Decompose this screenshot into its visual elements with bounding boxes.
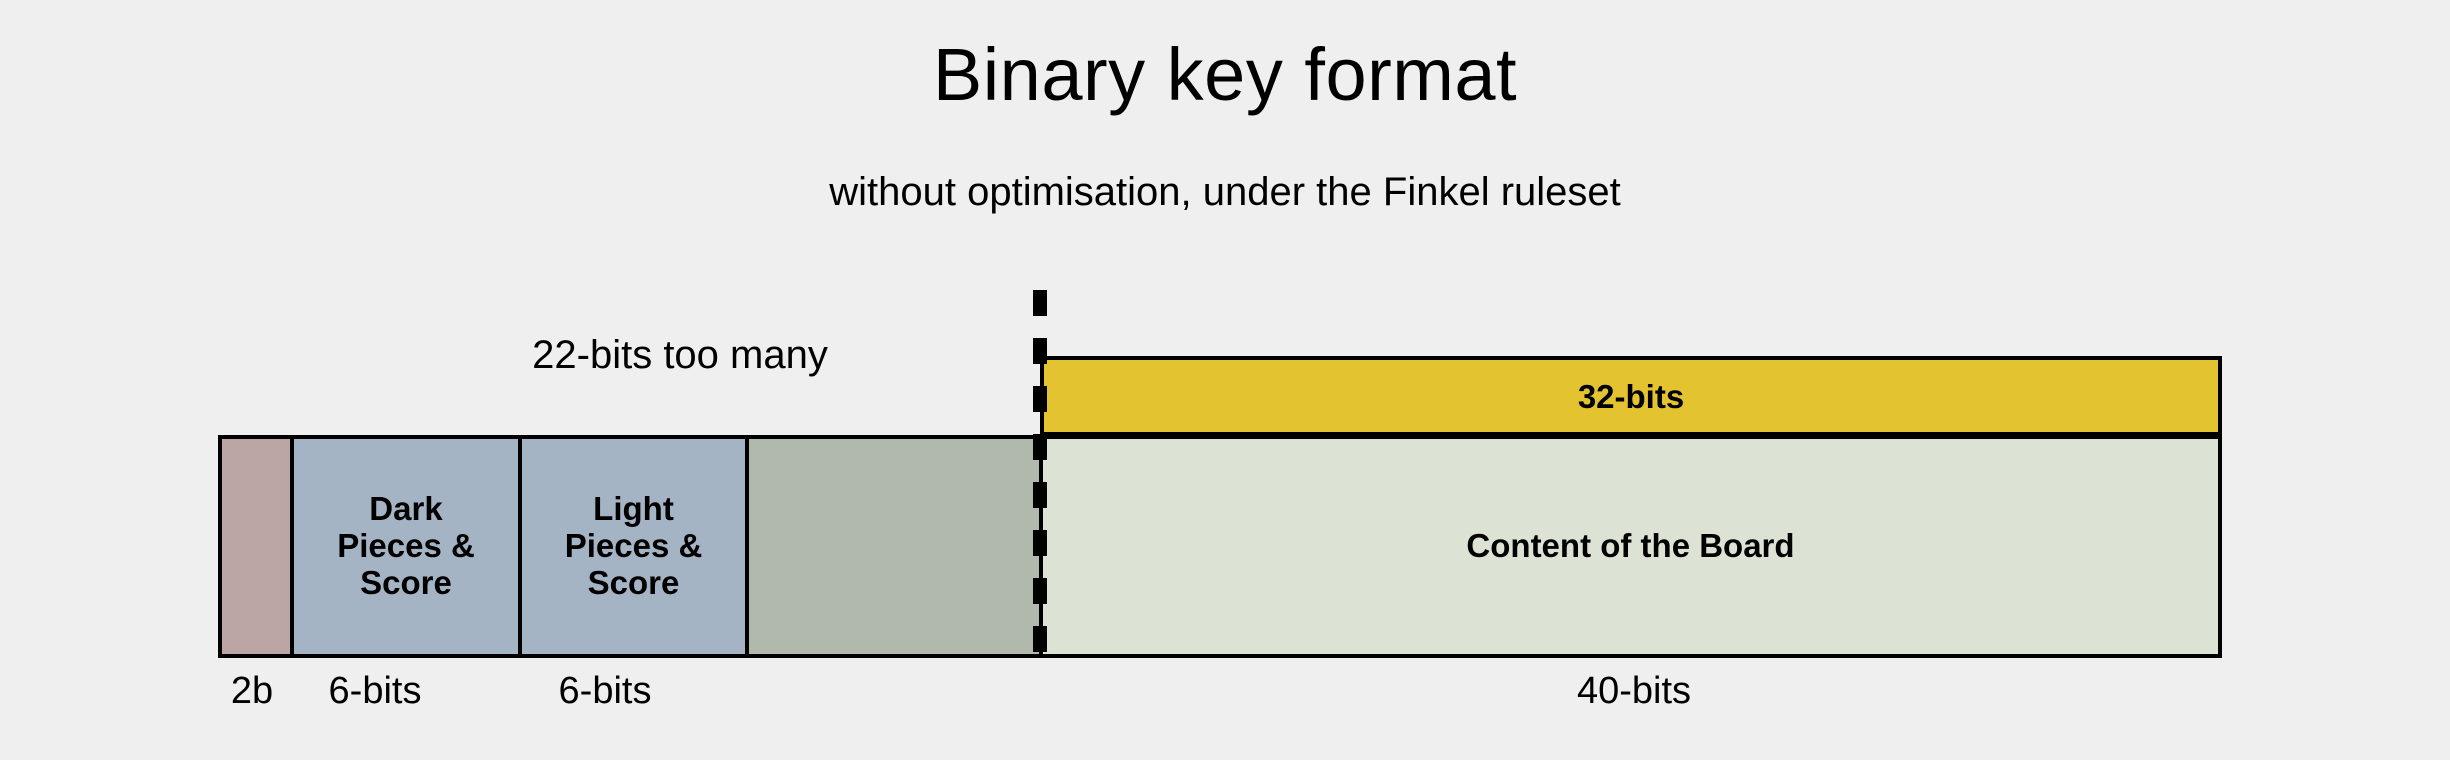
chart-plot-area: 32-bits Dark Pieces & Score Light Pieces… (218, 356, 2222, 658)
tick-label-board-content: 40-bits (1044, 672, 2224, 710)
bar-segment-light-pieces: Light Pieces & Score (522, 439, 749, 654)
page-title: Binary key format (0, 38, 2450, 112)
bar-segment-light-pieces-label: Light Pieces & Score (559, 491, 709, 602)
page-subtitle: without optimisation, under the Finkel r… (0, 172, 2450, 212)
requirement-boundary-dashed-line (1033, 290, 1047, 666)
bar-segment-dark-pieces: Dark Pieces & Score (294, 439, 522, 654)
tick-label-light-pieces: 6-bits (450, 672, 760, 710)
binary-key-format-figure: Binary key format without optimisation, … (0, 0, 2450, 760)
bar-segment-dark-pieces-label: Dark Pieces & Score (331, 491, 481, 602)
key-layout-bar: Dark Pieces & Score Light Pieces & Score… (218, 435, 2222, 658)
bar-segment-reserved (222, 439, 294, 654)
requirement-bar: 32-bits (1040, 356, 2222, 436)
bar-segment-board-content-label: Content of the Board (1460, 528, 1800, 565)
bar-segment-spare (749, 439, 1043, 654)
bar-segment-board-content: Content of the Board (1043, 439, 2218, 654)
requirement-bar-label: 32-bits (1578, 380, 1684, 413)
